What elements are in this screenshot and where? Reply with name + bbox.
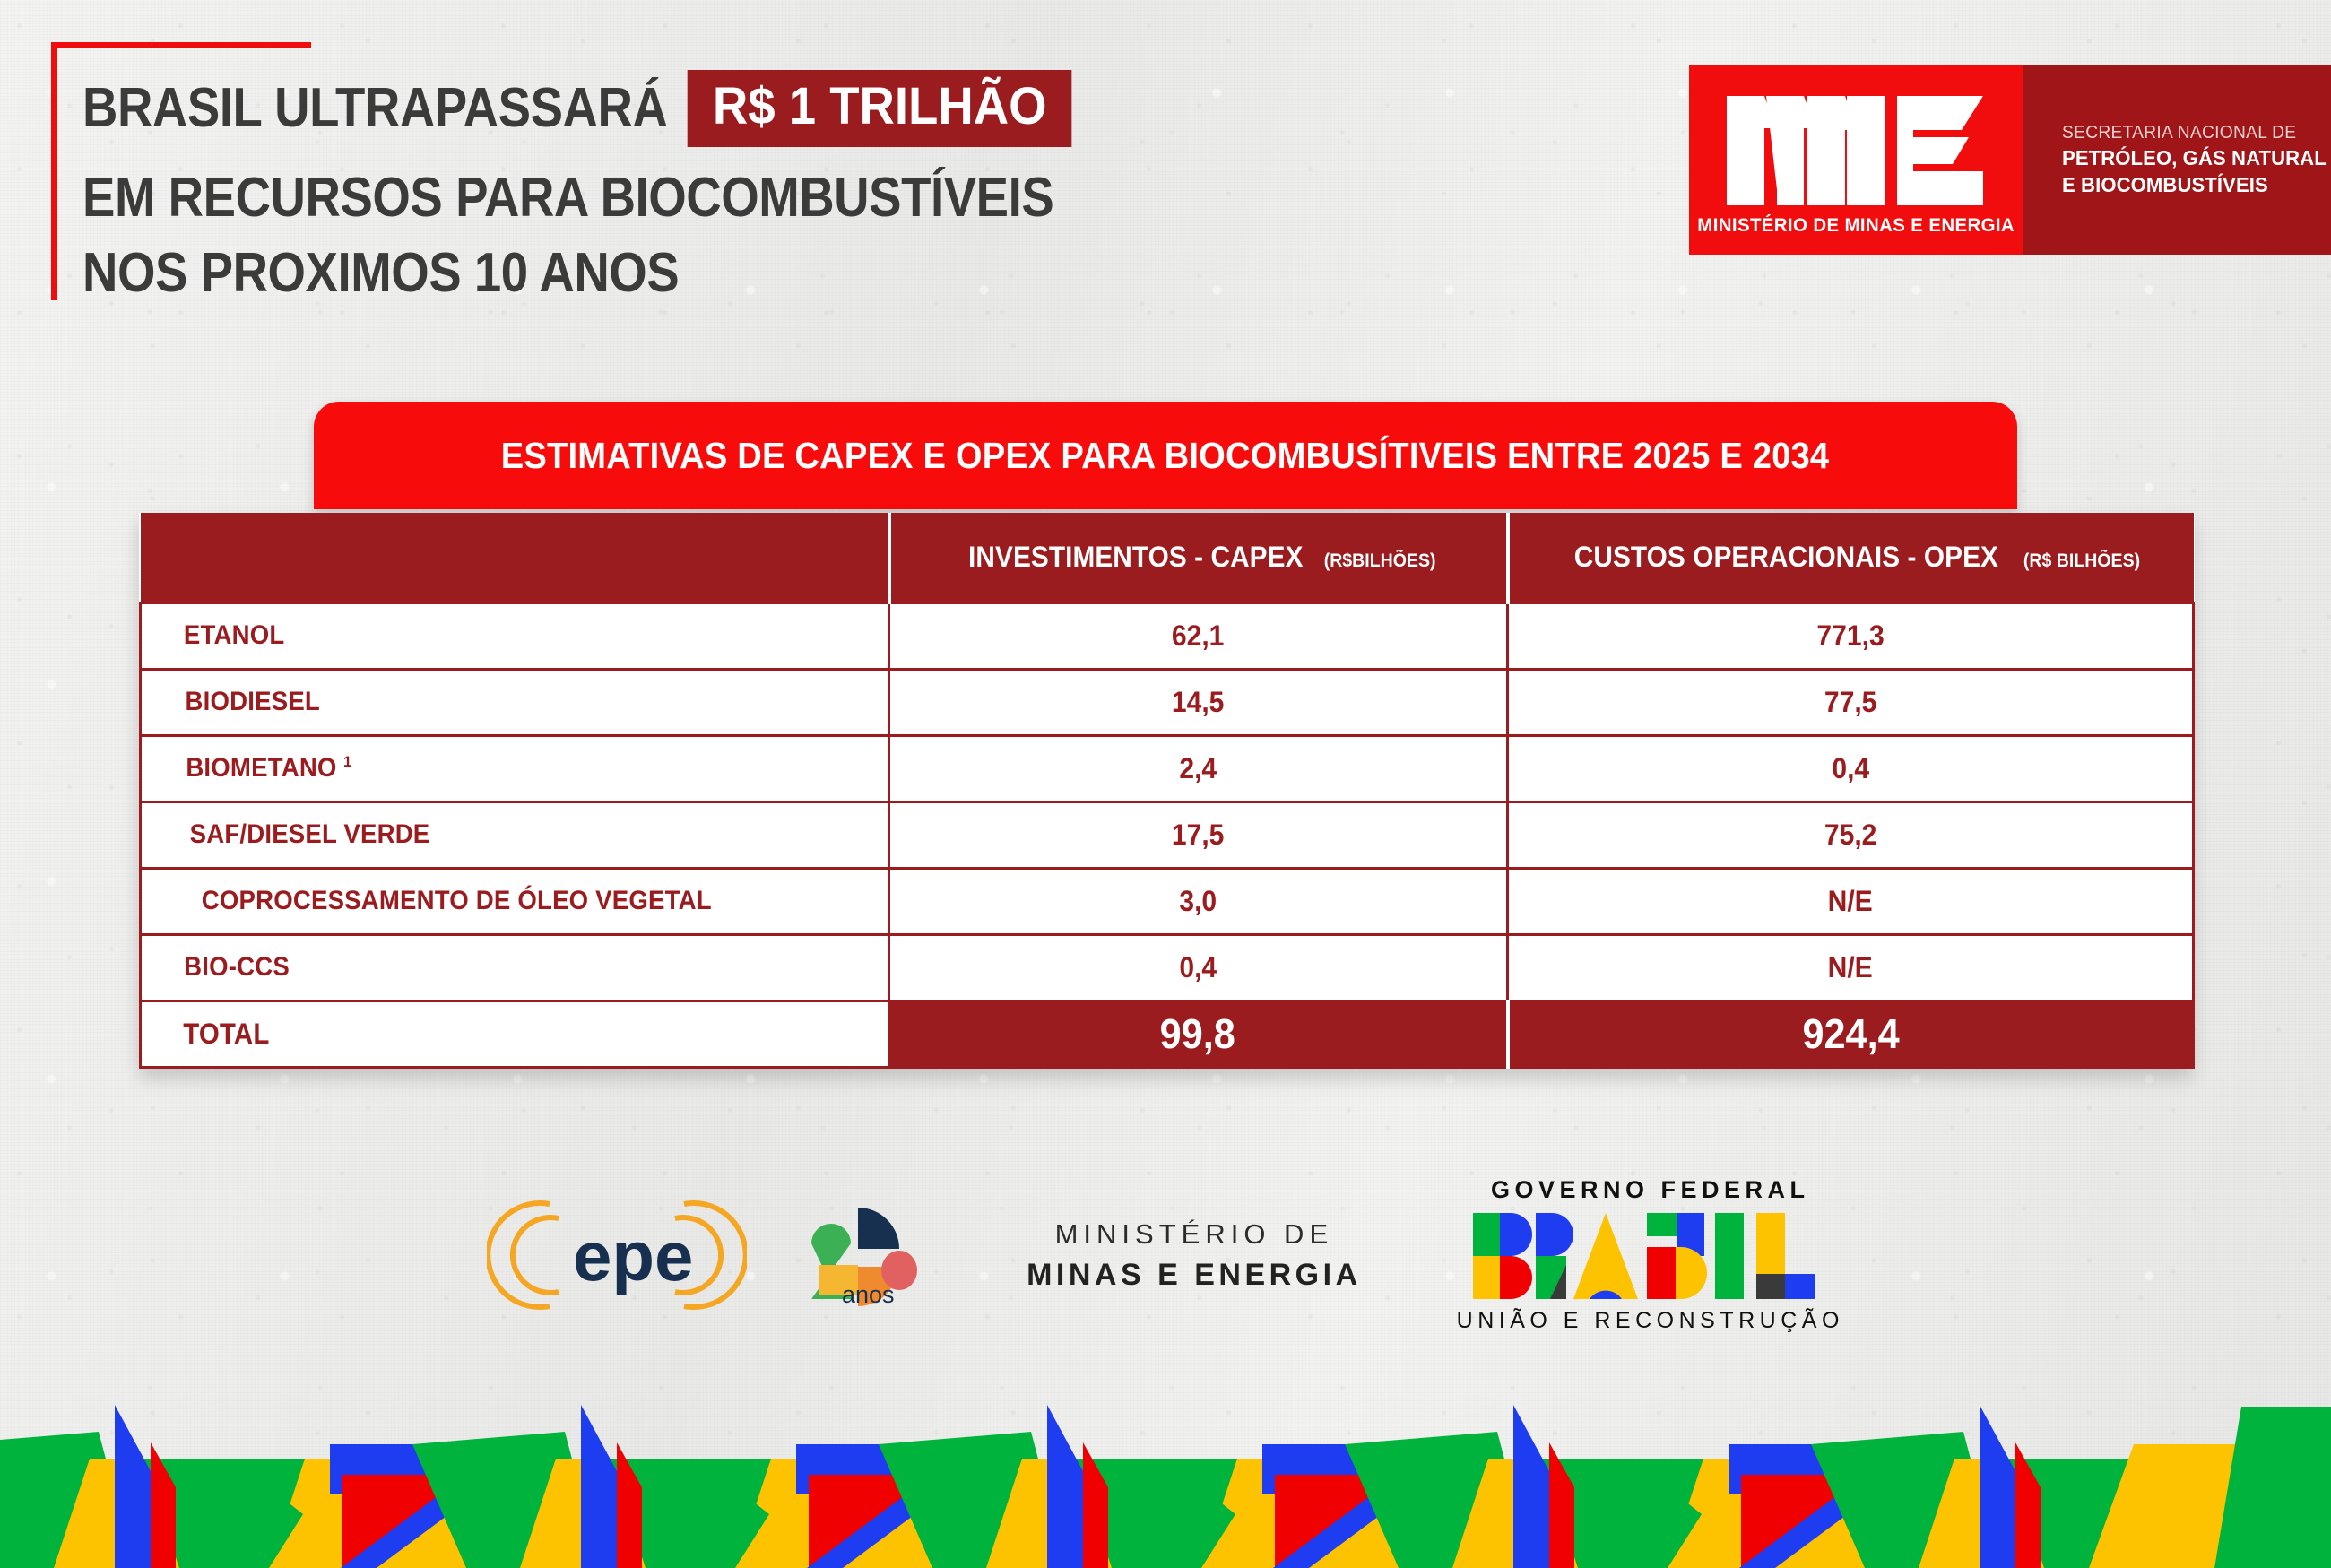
decorative-bottom-band: [0, 1389, 2331, 1568]
headline-text-tertiary: NOS PROXIMOS 10 ANOS: [82, 246, 679, 301]
governo-federal-logo: GOVERNO FEDERAL: [1457, 1176, 1844, 1334]
epe-20-anos-logo: anos: [795, 1188, 939, 1322]
row-label-cell: BIO-CCS: [141, 934, 889, 1001]
secretariat-line-3: E BIOCOMBUSTÍVEIS: [2062, 173, 2327, 197]
governo-federal-top-label: GOVERNO FEDERAL: [1491, 1176, 1810, 1204]
footer-logo-row: epe anos MINISTÉRIO DE MINAS E ENERGIA G…: [0, 1157, 2331, 1354]
band-shape: [1980, 1405, 2015, 1568]
row-capex-cell: 17,5: [889, 801, 1508, 868]
row-capex-value: 14,5: [1172, 686, 1225, 719]
epe-logo: epe: [487, 1188, 747, 1322]
total-opex-cell: 924,4: [1508, 1001, 2194, 1067]
row-capex-cell: 62,1: [889, 602, 1508, 669]
mme-logo: MINISTÉRIO DE MINAS E ENERGIA SECRETARIA…: [1689, 65, 2292, 255]
headline-line-2: EM RECURSOS PARA BIOCOMBUSTÍVEIS: [82, 170, 1186, 226]
column-header-category: [141, 513, 889, 602]
row-label-text: BIOMETANO: [186, 753, 336, 784]
epe-logo-icon: epe: [487, 1188, 747, 1322]
brasil-wordmark-icon: [1471, 1211, 1830, 1301]
row-capex-cell: 3,0: [889, 868, 1508, 934]
headline-line-3: NOS PROXIMOS 10 ANOS: [82, 246, 1186, 301]
epe-20-anos-word: anos: [842, 1281, 895, 1308]
governo-federal-bottom-label: UNIÃO E RECONSTRUÇÃO: [1457, 1308, 1844, 1334]
column-header-capex-label: INVESTIMENTOS - CAPEX: [968, 541, 1303, 574]
table-row: ETANOL62,1771,3: [141, 602, 2194, 669]
row-label-text: BIODIESEL: [186, 687, 320, 717]
band-shape: [1513, 1405, 1549, 1568]
row-capex-value: 0,4: [1180, 951, 1217, 984]
row-capex-value: 62,1: [1172, 619, 1225, 653]
row-label-cell: BIOMETANO1: [141, 735, 889, 801]
capex-opex-table: INVESTIMENTOS - CAPEX (R$BILHÕES) CUSTOS…: [139, 513, 2195, 1069]
ministry-logo-line-2: MINAS E ENERGIA: [1027, 1258, 1362, 1293]
mme-logo-red-panel: MINISTÉRIO DE MINAS E ENERGIA: [1689, 65, 2023, 255]
band-shape: [115, 1405, 151, 1568]
band-shape: [1047, 1405, 1083, 1568]
row-opex-cell: 77,5: [1508, 669, 2194, 735]
mme-logo-dark-panel: SECRETARIA NACIONAL DE PETRÓLEO, GÁS NAT…: [2023, 65, 2331, 255]
row-capex-cell: 0,4: [889, 934, 1508, 1001]
total-label-text: TOTAL: [183, 1018, 269, 1051]
total-capex-value: 99,8: [1160, 1009, 1235, 1058]
row-opex-value: 75,2: [1824, 819, 1877, 852]
mme-monogram-icon: [1721, 92, 1990, 209]
row-label-text: BIO-CCS: [184, 952, 290, 983]
row-label-text: COPROCESSAMENTO DE ÓLEO VEGETAL: [202, 886, 712, 916]
band-shape: [581, 1405, 617, 1568]
column-header-opex: CUSTOS OPERACIONAIS - OPEX (R$ BILHÕES): [1508, 513, 2194, 602]
table-row: SAF/DIESEL VERDE17,575,2: [141, 801, 2194, 868]
table-header-row: INVESTIMENTOS - CAPEX (R$BILHÕES) CUSTOS…: [141, 513, 2194, 602]
column-header-opex-label: CUSTOS OPERACIONAIS - OPEX: [1574, 541, 1998, 574]
column-header-capex-unit: (R$BILHÕES): [1324, 550, 1436, 572]
headline-line-1: BRASIL ULTRAPASSARÁ R$ 1 TRILHÃO: [82, 70, 1186, 147]
secretariat-line-1: SECRETARIA NACIONAL DE: [2062, 123, 2327, 143]
ministry-text-logo: MINISTÉRIO DE MINAS E ENERGIA: [1027, 1218, 1362, 1293]
row-opex-cell: 0,4: [1508, 735, 2194, 801]
table-header: INVESTIMENTOS - CAPEX (R$BILHÕES) CUSTOS…: [141, 513, 2194, 602]
decorative-band-shapes: [0, 1389, 2331, 1568]
row-label-cell: SAF/DIESEL VERDE: [141, 801, 889, 868]
band-shape: [2214, 1407, 2331, 1568]
ministry-logo-line-1: MINISTÉRIO DE: [1055, 1218, 1334, 1251]
total-opex-value: 924,4: [1802, 1009, 1899, 1058]
total-label-cell: TOTAL: [141, 1001, 889, 1067]
total-capex-cell: 99,8: [889, 1001, 1508, 1067]
table-title-banner: ESTIMATIVAS DE CAPEX E OPEX PARA BIOCOMB…: [314, 402, 2017, 509]
row-opex-value: 0,4: [1832, 752, 1869, 785]
table-body: ETANOL62,1771,3BIODIESEL14,577,5BIOMETAN…: [141, 602, 2194, 1067]
table-container: INVESTIMENTOS - CAPEX (R$BILHÕES) CUSTOS…: [139, 513, 2192, 1069]
headline-text-primary: BRASIL ULTRAPASSARÁ: [82, 81, 667, 136]
row-opex-value: 77,5: [1824, 686, 1877, 719]
row-opex-value: N/E: [1828, 951, 1873, 984]
row-capex-value: 17,5: [1172, 819, 1225, 852]
footnote-marker: 1: [343, 753, 352, 770]
row-label-cell: ETANOL: [141, 602, 889, 669]
table-total-row: TOTAL99,8924,4: [141, 1001, 2194, 1067]
row-opex-value: 771,3: [1816, 619, 1884, 653]
epe-20-anos-icon: anos: [795, 1188, 939, 1322]
headline-block: BRASIL ULTRAPASSARÁ R$ 1 TRILHÃO EM RECU…: [82, 70, 1186, 301]
row-opex-cell: N/E: [1508, 934, 2194, 1001]
row-opex-cell: N/E: [1508, 868, 2194, 934]
row-label-cell: COPROCESSAMENTO DE ÓLEO VEGETAL: [141, 868, 889, 934]
table-row: COPROCESSAMENTO DE ÓLEO VEGETAL3,0N/E: [141, 868, 2194, 934]
table-row: BIOMETANO12,40,4: [141, 735, 2194, 801]
row-label-cell: BIODIESEL: [141, 669, 889, 735]
row-label-text: SAF/DIESEL VERDE: [190, 819, 430, 850]
column-header-capex: INVESTIMENTOS - CAPEX (R$BILHÕES): [889, 513, 1508, 602]
row-opex-cell: 771,3: [1508, 602, 2194, 669]
row-capex-cell: 2,4: [889, 735, 1508, 801]
row-capex-value: 3,0: [1180, 885, 1217, 918]
mme-ministry-label: MINISTÉRIO DE MINAS E ENERGIA: [1697, 214, 2015, 237]
row-capex-cell: 14,5: [889, 669, 1508, 735]
row-opex-cell: 75,2: [1508, 801, 2194, 868]
row-label-text: ETANOL: [184, 620, 285, 651]
table-row: BIODIESEL14,577,5: [141, 669, 2194, 735]
column-header-opex-unit: (R$ BILHÕES): [2023, 550, 2139, 572]
table-row: BIO-CCS0,4N/E: [141, 934, 2194, 1001]
epe-wordmark-text: epe: [573, 1217, 693, 1295]
headline-text-secondary: EM RECURSOS PARA BIOCOMBUSTÍVEIS: [82, 170, 1053, 226]
table-title-text: ESTIMATIVAS DE CAPEX E OPEX PARA BIOCOMB…: [501, 435, 1830, 477]
headline-value-badge: R$ 1 TRILHÃO: [688, 70, 1072, 147]
row-capex-value: 2,4: [1180, 752, 1217, 785]
secretariat-line-2: PETRÓLEO, GÁS NATURAL: [2062, 146, 2327, 170]
row-opex-value: N/E: [1828, 885, 1873, 918]
